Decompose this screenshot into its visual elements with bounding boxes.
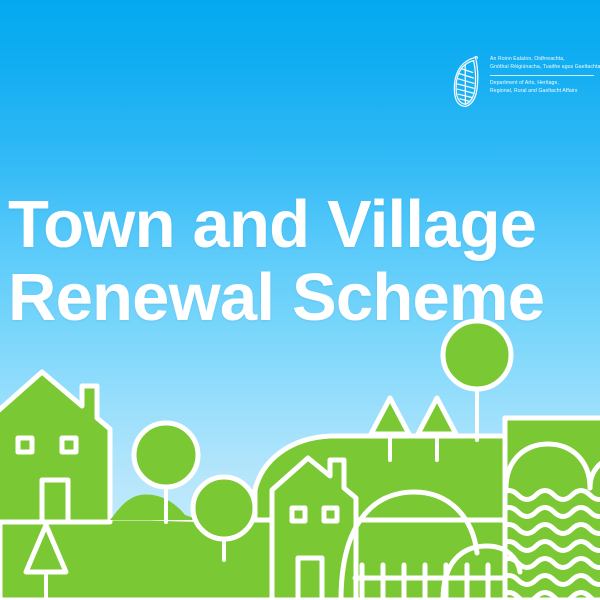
logo-irish-text: An Roinn Ealaíon, Oidhreachta, Gnóthaí R… xyxy=(490,55,600,72)
house-left xyxy=(0,372,110,522)
left-hillock xyxy=(110,494,200,520)
village-illustration xyxy=(0,310,600,600)
poster-canvas: An Roinn Ealaíon, Oidhreachta, Gnóthaí R… xyxy=(0,0,600,600)
title-line-1: Town and Village xyxy=(8,187,544,262)
logo-english-text: Department of Arts, Heritage, Regional, … xyxy=(490,79,600,96)
water-waves xyxy=(500,418,600,600)
logo-english-line-1: Department of Arts, Heritage, xyxy=(490,79,600,87)
logo-english-line-2: Regional, Rural and Gaeltacht Affairs xyxy=(490,87,600,95)
round-tree-tall xyxy=(443,321,511,440)
foreground-ground xyxy=(0,518,505,600)
logo-divider xyxy=(490,75,594,76)
department-logo: An Roinn Ealaíon, Oidhreachta, Gnóthaí R… xyxy=(450,52,600,110)
logo-irish-line-2: Gnóthaí Réigiúnacha, Tuaithe agus Gaelta… xyxy=(490,63,600,71)
irish-harp-icon xyxy=(450,52,482,110)
logo-irish-line-1: An Roinn Ealaíon, Oidhreachta, xyxy=(490,55,600,63)
logo-text-block: An Roinn Ealaíon, Oidhreachta, Gnóthaí R… xyxy=(490,52,600,96)
